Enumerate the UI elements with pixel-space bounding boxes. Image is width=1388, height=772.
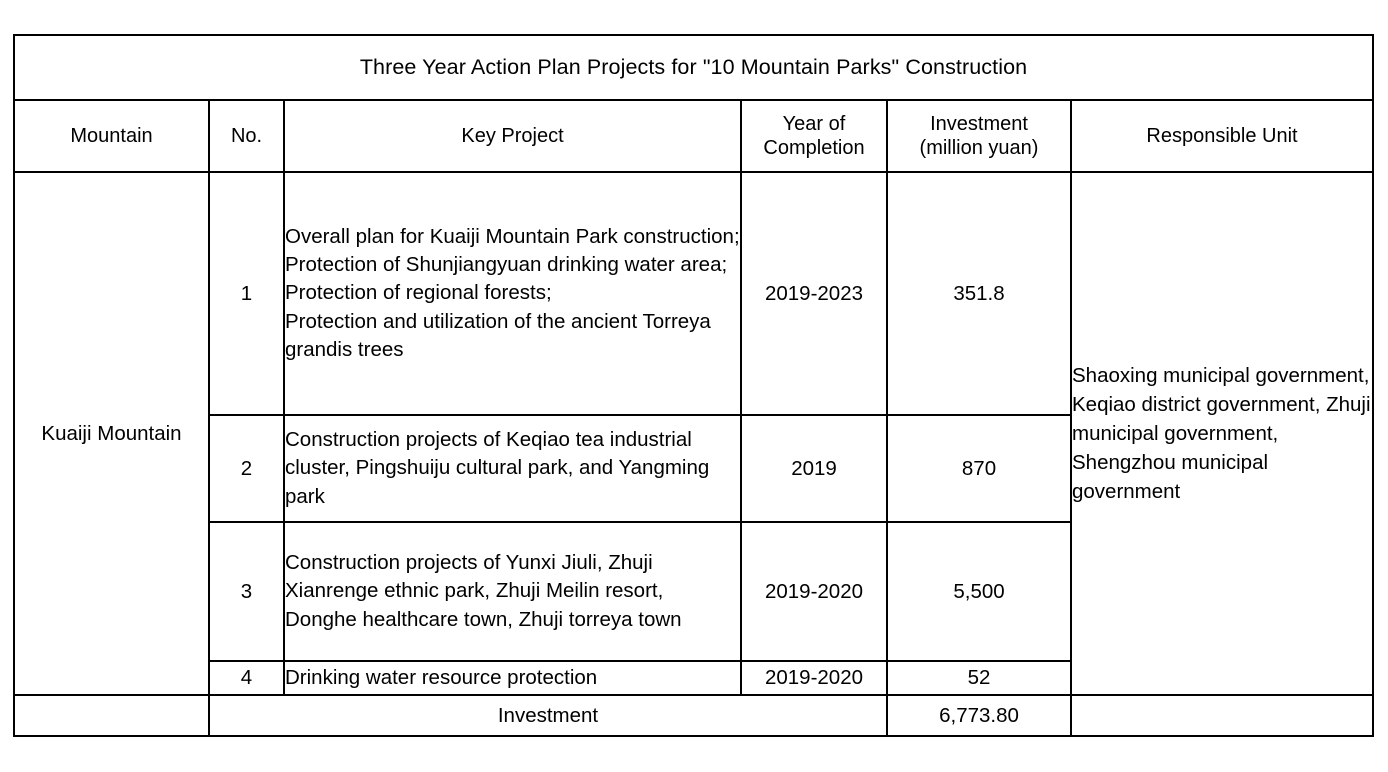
- column-header-responsible-unit: Responsible Unit: [1071, 100, 1373, 172]
- cell-investment: 52: [887, 661, 1071, 695]
- cell-key-project: Drinking water resource protection: [284, 661, 741, 695]
- cell-investment: 351.8: [887, 172, 1071, 415]
- table-header-row: Mountain No. Key Project Year of Complet…: [14, 100, 1373, 172]
- table-canvas: Three Year Action Plan Projects for "10 …: [0, 0, 1388, 772]
- cell-year-of-completion: 2019-2020: [741, 661, 887, 695]
- column-header-no: No.: [209, 100, 284, 172]
- cell-year-of-completion: 2019: [741, 415, 887, 522]
- three-year-action-plan-table: Three Year Action Plan Projects for "10 …: [13, 34, 1374, 737]
- table-total-row: Investment 6,773.80: [14, 695, 1373, 736]
- table-title: Three Year Action Plan Projects for "10 …: [14, 35, 1373, 100]
- cell-key-project: Overall plan for Kuaiji Mountain Park co…: [284, 172, 741, 415]
- column-header-year-of-completion: Year of Completion: [741, 100, 887, 172]
- cell-year-of-completion: 2019-2020: [741, 522, 887, 661]
- cell-no: 2: [209, 415, 284, 522]
- cell-key-project: Construction projects of Keqiao tea indu…: [284, 415, 741, 522]
- cell-mountain-name: Kuaiji Mountain: [14, 172, 209, 695]
- total-investment-value: 6,773.80: [887, 695, 1071, 736]
- cell-responsible-unit: Shaoxing municipal government, Keqiao di…: [1071, 172, 1373, 695]
- total-row-responsible-unit-blank: [1071, 695, 1373, 736]
- table-title-row: Three Year Action Plan Projects for "10 …: [14, 35, 1373, 100]
- cell-investment: 870: [887, 415, 1071, 522]
- column-header-key-project: Key Project: [284, 100, 741, 172]
- cell-year-of-completion: 2019-2023: [741, 172, 887, 415]
- column-header-mountain: Mountain: [14, 100, 209, 172]
- cell-investment: 5,500: [887, 522, 1071, 661]
- cell-no: 4: [209, 661, 284, 695]
- column-header-investment: Investment (million yuan): [887, 100, 1071, 172]
- cell-no: 3: [209, 522, 284, 661]
- cell-key-project: Construction projects of Yunxi Jiuli, Zh…: [284, 522, 741, 661]
- total-label: Investment: [209, 695, 887, 736]
- table-row: Kuaiji Mountain 1 Overall plan for Kuaij…: [14, 172, 1373, 415]
- cell-no: 1: [209, 172, 284, 415]
- total-row-mountain-blank: [14, 695, 209, 736]
